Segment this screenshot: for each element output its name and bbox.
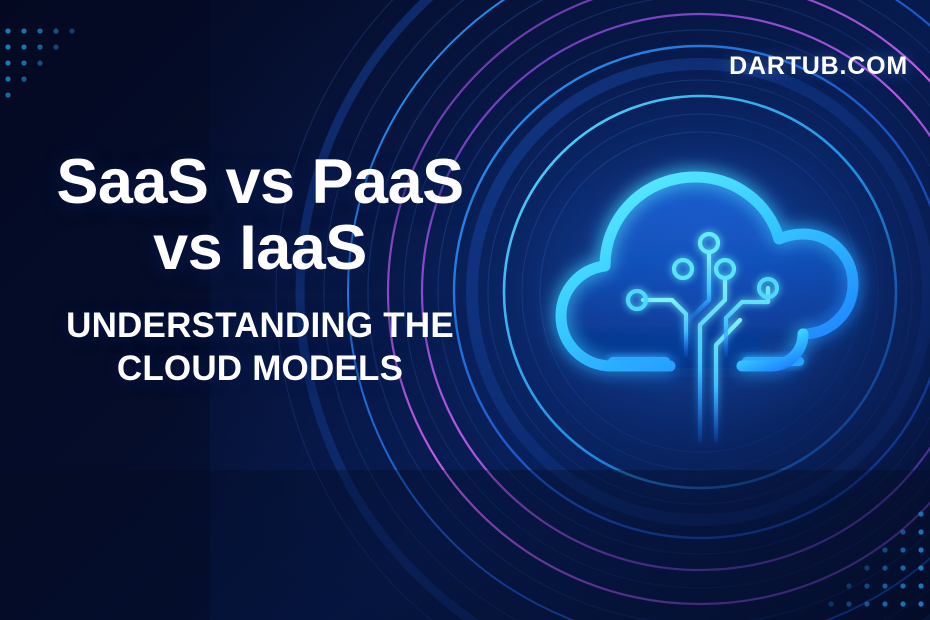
subtitle-line-2: CLOUD MODELS [117,349,403,388]
title-line-2: vs IaaS [153,213,367,283]
hero-text-block: SaaS vs PaaS vs IaaS UNDERSTANDING THE C… [0,150,520,390]
site-watermark: DARTUB.COM [729,52,908,81]
page-subtitle: UNDERSTANDING THE CLOUD MODELS [66,305,454,390]
poster-canvas: DARTUB.COM SaaS vs PaaS vs IaaS UNDERSTA… [0,0,930,620]
subtitle-line-1: UNDERSTANDING THE [66,306,454,345]
title-line-1: SaaS vs PaaS [56,147,463,217]
page-title: SaaS vs PaaS vs IaaS [56,150,463,281]
